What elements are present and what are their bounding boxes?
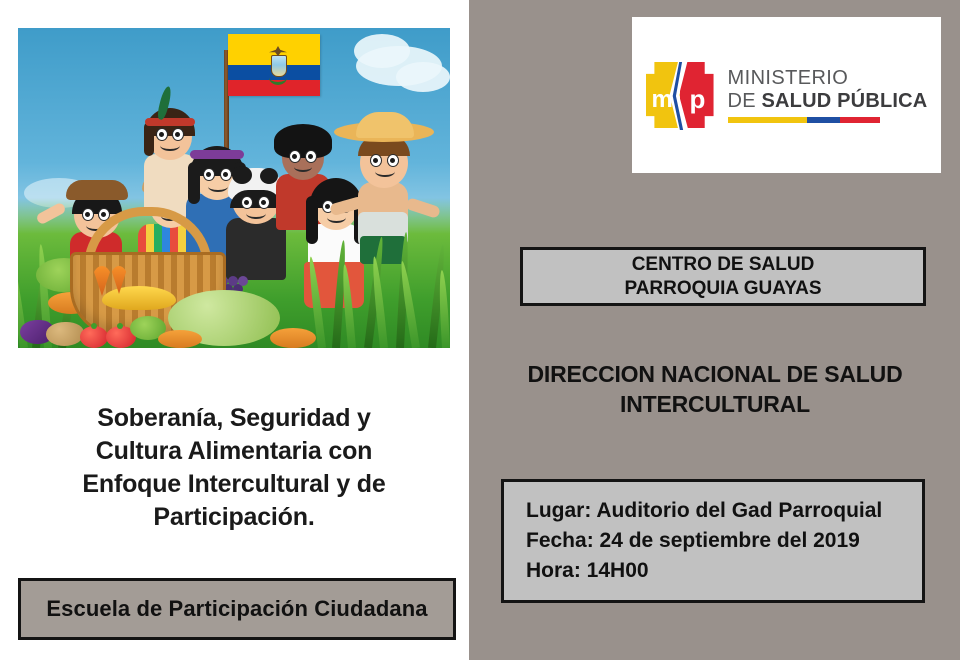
ecuador-flag-icon bbox=[228, 34, 320, 96]
tricolor-bar-icon bbox=[728, 117, 880, 123]
title-line: Soberanía, Seguridad y bbox=[24, 402, 444, 435]
cloud-shape bbox=[354, 34, 410, 68]
tomato-produce bbox=[80, 326, 108, 348]
ministry-logo-text: MINISTERIO DE SALUD PÚBLICA bbox=[728, 67, 928, 123]
evento-hora: Hora: 14H00 bbox=[526, 556, 922, 586]
direccion-line: INTERCULTURAL bbox=[485, 390, 945, 420]
escuela-label: Escuela de Participación Ciudadana bbox=[46, 596, 427, 622]
centro-line: CENTRO DE SALUD bbox=[632, 253, 815, 277]
right-panel: m p MINISTERIO DE SALUD PÚBLICA CENTRO D… bbox=[469, 0, 960, 660]
logo-letter-p: p bbox=[690, 86, 706, 112]
illustration-children-food bbox=[18, 28, 450, 348]
centro-line: PARROQUIA GUAYAS bbox=[624, 277, 821, 301]
ministry-line-1: MINISTERIO bbox=[728, 67, 928, 89]
direccion-line: DIRECCION NACIONAL DE SALUD bbox=[485, 360, 945, 390]
title-line: Cultura Alimentaria con bbox=[24, 435, 444, 468]
squash-produce bbox=[270, 328, 316, 348]
squash-produce bbox=[158, 330, 202, 348]
evento-fecha: Fecha: 24 de septiembre del 2019 bbox=[526, 526, 922, 556]
ministry-line-2-light: DE bbox=[728, 90, 762, 112]
direccion-nacional-heading: DIRECCION NACIONAL DE SALUD INTERCULTURA… bbox=[485, 360, 945, 420]
centro-de-salud-box: CENTRO DE SALUD PARROQUIA GUAYAS bbox=[520, 247, 926, 306]
poster-root: Soberanía, Seguridad y Cultura Alimentar… bbox=[0, 0, 960, 660]
banana-produce bbox=[102, 286, 176, 310]
title-line: Participación. bbox=[24, 501, 444, 534]
title-line: Enfoque Intercultural y de bbox=[24, 468, 444, 501]
left-panel: Soberanía, Seguridad y Cultura Alimentar… bbox=[0, 0, 469, 660]
evento-lugar: Lugar: Auditorio del Gad Parroquial bbox=[526, 496, 922, 526]
evento-details-box: Lugar: Auditorio del Gad Parroquial Fech… bbox=[501, 479, 925, 603]
child-figure bbox=[336, 116, 438, 282]
cloud-shape bbox=[396, 62, 450, 92]
ministry-line-2: DE SALUD PÚBLICA bbox=[728, 90, 928, 112]
ministry-logo-card: m p MINISTERIO DE SALUD PÚBLICA bbox=[632, 17, 941, 173]
escuela-participacion-box: Escuela de Participación Ciudadana bbox=[18, 578, 456, 640]
logo-letter-m: m bbox=[652, 88, 673, 112]
ministry-line-2-bold: SALUD PÚBLICA bbox=[762, 90, 928, 112]
page-title: Soberanía, Seguridad y Cultura Alimentar… bbox=[24, 402, 444, 534]
msp-cross-logo-icon: m p bbox=[646, 62, 714, 128]
